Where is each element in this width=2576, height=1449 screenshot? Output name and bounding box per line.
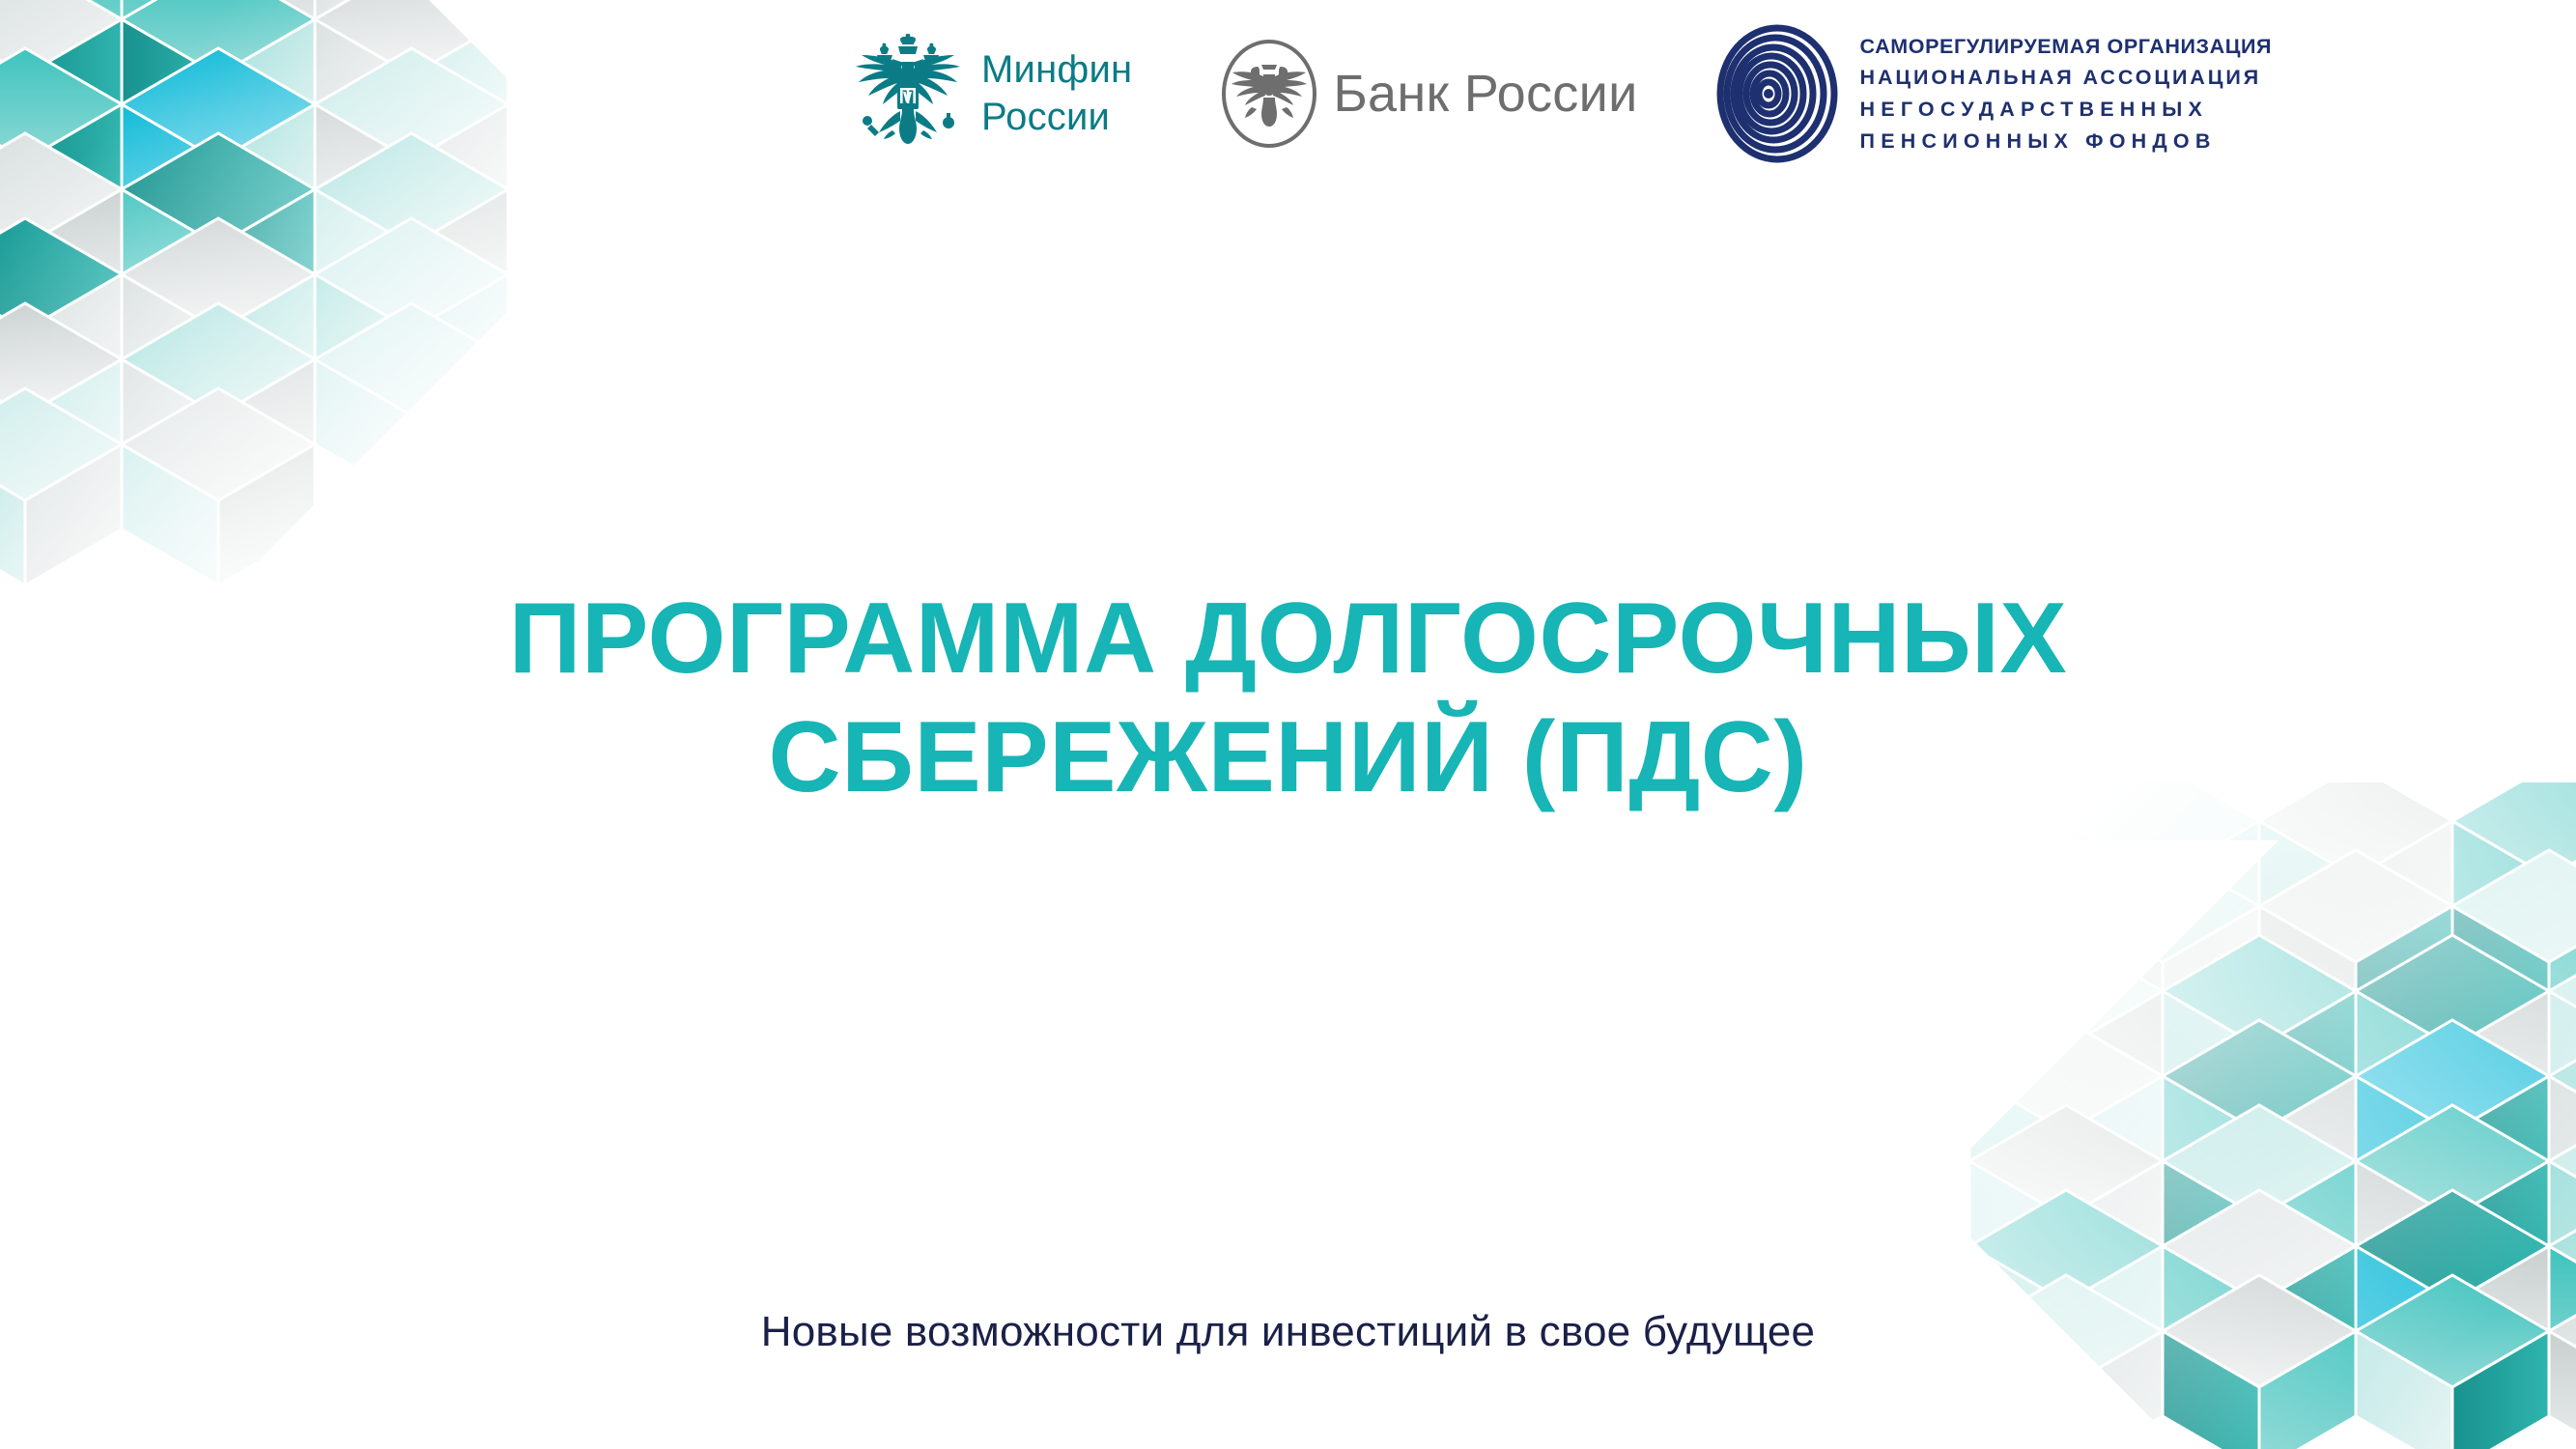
logo-napf-line3: НЕГОСУДАРСТВЕННЫХ bbox=[1860, 94, 2273, 126]
isometric-cube-pattern-top-left bbox=[0, 0, 566, 591]
napf-spiral-emblem bbox=[1715, 24, 1839, 163]
page-subtitle: Новые возможности для инвестиций в свое … bbox=[0, 1308, 2576, 1356]
minfin-eagle-emblem bbox=[850, 34, 966, 154]
logo-napf-line4: ПЕНСИОННЫХ ФОНДОВ bbox=[1860, 126, 2273, 157]
logo-bank-of-russia-label: Банк России bbox=[1333, 64, 1637, 124]
logo-napf: САМОРЕГУЛИРУЕМАЯ ОРГАНИЗАЦИЯ НАЦИОНАЛЬНА… bbox=[1715, 24, 2273, 163]
bank-of-russia-eagle-emblem bbox=[1219, 38, 1319, 150]
logo-minfin-label: Минфин России bbox=[981, 46, 1132, 141]
logo-bank-of-russia: Банк России bbox=[1219, 38, 1637, 150]
logo-napf-line2: НАЦИОНАЛЬНАЯ АССОЦИАЦИЯ bbox=[1860, 62, 2273, 94]
logo-napf-label: САМОРЕГУЛИРУЕМАЯ ОРГАНИЗАЦИЯ НАЦИОНАЛЬНА… bbox=[1860, 31, 2273, 157]
slide-root: Минфин России bbox=[0, 0, 2576, 1449]
logo-minfin: Минфин России bbox=[850, 34, 1132, 154]
partner-logo-row: Минфин России bbox=[850, 21, 2492, 166]
logo-napf-line1: САМОРЕГУЛИРУЕМАЯ ОРГАНИЗАЦИЯ bbox=[1860, 31, 2273, 63]
page-title: ПРОГРАММА ДОЛГОСРОЧНЫХ СБЕРЕЖЕНИЙ (ПДС) bbox=[0, 580, 2576, 816]
